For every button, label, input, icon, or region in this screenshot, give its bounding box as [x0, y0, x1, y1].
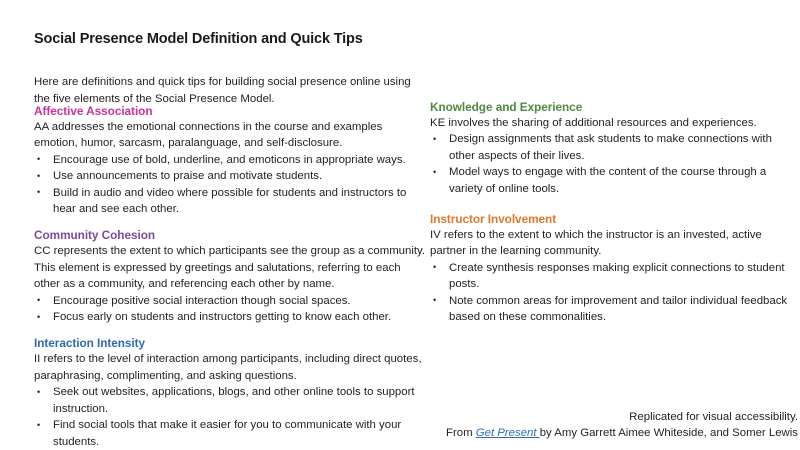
list-item: Build in audio and video where possible …: [34, 185, 426, 218]
section-body-community-cohesion: CC represents the extent to which partic…: [34, 243, 426, 292]
section-heading-affective-association: Affective Association: [34, 104, 426, 119]
section-heading-knowledge-and-experience: Knowledge and Experience: [430, 100, 798, 115]
tips-list-community-cohesion: Encourage positive social interaction th…: [34, 293, 426, 326]
left-column: Affective Association AA addresses the e…: [34, 104, 426, 450]
section-heading-instructor-involvement: Instructor Involvement: [430, 212, 798, 227]
section-community-cohesion: Community Cohesion CC represents the ext…: [34, 228, 426, 325]
section-body-interaction-intensity: II refers to the level of interaction am…: [34, 351, 426, 384]
list-item: Use announcements to praise and motivate…: [34, 168, 426, 184]
section-instructor-involvement: Instructor Involvement IV refers to the …: [430, 212, 798, 325]
section-heading-community-cohesion: Community Cohesion: [34, 228, 426, 243]
list-item: Design assignments that ask students to …: [430, 131, 798, 164]
section-body-affective-association: AA addresses the emotional connections i…: [34, 119, 426, 152]
list-item: Encourage use of bold, underline, and em…: [34, 152, 426, 168]
list-item: Create synthesis responses making explic…: [430, 260, 798, 293]
list-item: Note common areas for improvement and ta…: [430, 293, 798, 326]
get-present-link[interactable]: Get Present: [476, 427, 540, 439]
document-page: Social Presence Model Definition and Qui…: [0, 0, 800, 446]
tips-list-affective-association: Encourage use of bold, underline, and em…: [34, 152, 426, 218]
footer: Replicated for visual accessibility. Fro…: [238, 409, 798, 442]
footer-attribution: From Get Present by Amy Garrett Aimee Wh…: [238, 425, 798, 442]
footer-attribution-suffix: by Amy Garrett Aimee Whiteside, and Some…: [540, 427, 798, 439]
section-affective-association: Affective Association AA addresses the e…: [34, 104, 426, 217]
list-item: Model ways to engage with the content of…: [430, 164, 798, 197]
list-item: Encourage positive social interaction th…: [34, 293, 426, 309]
intro-paragraph: Here are definitions and quick tips for …: [34, 74, 426, 107]
section-body-knowledge-and-experience: KE involves the sharing of additional re…: [430, 115, 798, 131]
footer-attribution-prefix: From: [446, 427, 476, 439]
list-item: Focus early on students and instructors …: [34, 309, 426, 325]
page-title: Social Presence Model Definition and Qui…: [34, 31, 363, 47]
right-column: Knowledge and Experience KE involves the…: [430, 100, 798, 325]
tips-list-knowledge-and-experience: Design assignments that ask students to …: [430, 131, 798, 197]
tips-list-instructor-involvement: Create synthesis responses making explic…: [430, 260, 798, 326]
section-knowledge-and-experience: Knowledge and Experience KE involves the…: [430, 100, 798, 197]
footer-accessibility-note: Replicated for visual accessibility.: [238, 409, 798, 426]
section-body-instructor-involvement: IV refers to the extent to which the ins…: [430, 227, 798, 260]
section-heading-interaction-intensity: Interaction Intensity: [34, 336, 426, 351]
